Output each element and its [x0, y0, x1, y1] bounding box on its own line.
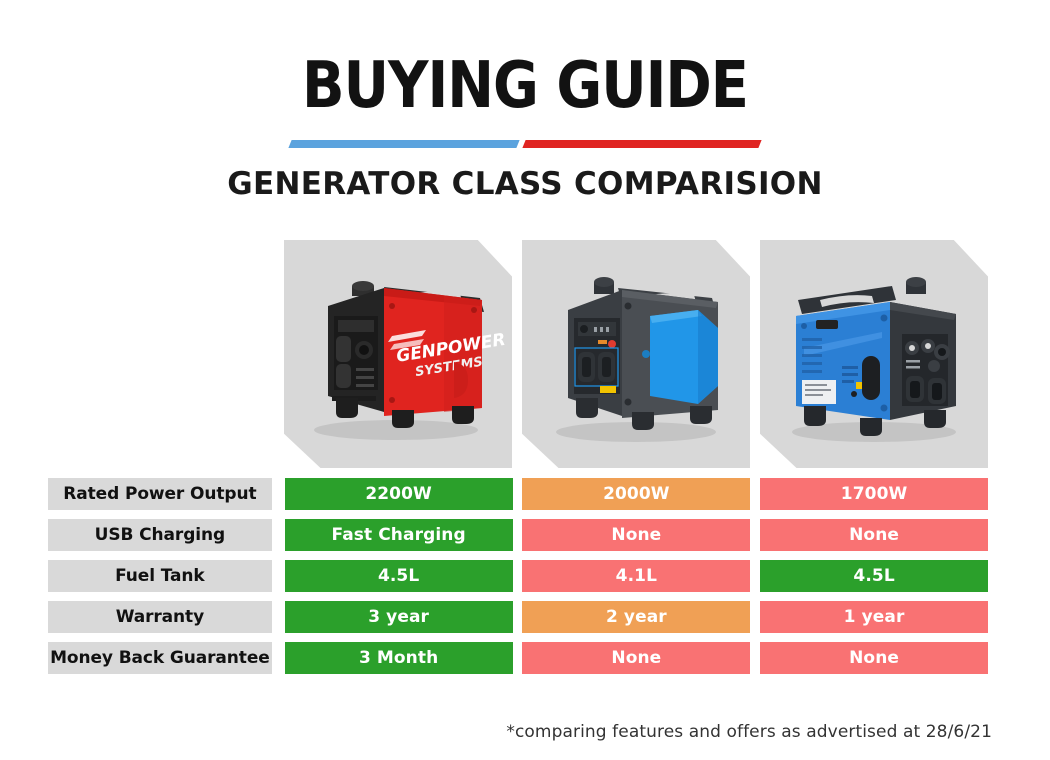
comparison-table: Rated Power Output 2200W 2000W 1700W USB…: [48, 478, 988, 683]
product-panel-1: GENPOWER SYSTEMS: [284, 240, 512, 468]
row-spacer: [272, 519, 285, 551]
feature-label: USB Charging: [48, 519, 272, 551]
value-cell-col3: 1 year: [760, 601, 988, 633]
feature-label: Rated Power Output: [48, 478, 272, 510]
row-spacer: [513, 478, 523, 510]
row-spacer: [272, 478, 285, 510]
generator-grey-blue-image: [522, 240, 750, 468]
value-cell-col2: 2000W: [522, 478, 750, 510]
table-row: Money Back Guarantee 3 Month None None: [48, 642, 988, 674]
value-cell-col1: 4.5L: [285, 560, 513, 592]
row-spacer: [750, 560, 760, 592]
table-row: Warranty 3 year 2 year 1 year: [48, 601, 988, 633]
value-cell-col2: 4.1L: [522, 560, 750, 592]
value-cell-col1: 2200W: [285, 478, 513, 510]
value-cell-col2: None: [522, 642, 750, 674]
header: BUYING GUIDE GENERATOR CLASS COMPARISION: [0, 0, 1050, 202]
row-spacer: [513, 519, 523, 551]
buying-guide-page: BUYING GUIDE GENERATOR CLASS COMPARISION: [0, 0, 1050, 760]
value-cell-col3: 4.5L: [760, 560, 988, 592]
row-spacer: [513, 601, 523, 633]
product-panel-3: [760, 240, 988, 468]
feature-label: Money Back Guarantee: [48, 642, 272, 674]
product-image-row: GENPOWER SYSTEMS: [284, 240, 988, 468]
product-panel-2: [522, 240, 750, 468]
value-cell-col3: 1700W: [760, 478, 988, 510]
table-row: USB Charging Fast Charging None None: [48, 519, 988, 551]
feature-label: Warranty: [48, 601, 272, 633]
table-row: Rated Power Output 2200W 2000W 1700W: [48, 478, 988, 510]
divider-red-bar: [522, 140, 761, 148]
value-cell-col3: None: [760, 642, 988, 674]
row-spacer: [750, 642, 760, 674]
generator-red-image: GENPOWER SYSTEMS: [284, 240, 512, 468]
row-spacer: [272, 560, 285, 592]
value-cell-col1: Fast Charging: [285, 519, 513, 551]
row-spacer: [750, 601, 760, 633]
value-cell-col2: 2 year: [522, 601, 750, 633]
value-cell-col1: 3 year: [285, 601, 513, 633]
page-subtitle: GENERATOR CLASS COMPARISION: [0, 166, 1050, 202]
title-divider: [290, 140, 760, 150]
row-spacer: [750, 478, 760, 510]
page-title: BUYING GUIDE: [16, 54, 1035, 118]
row-spacer: [272, 601, 285, 633]
divider-blue-bar: [288, 140, 519, 148]
feature-label: Fuel Tank: [48, 560, 272, 592]
row-spacer: [513, 642, 523, 674]
table-row: Fuel Tank 4.5L 4.1L 4.5L: [48, 560, 988, 592]
row-spacer: [272, 642, 285, 674]
generator-blue-image: [760, 240, 988, 468]
value-cell-col3: None: [760, 519, 988, 551]
value-cell-col2: None: [522, 519, 750, 551]
row-spacer: [513, 560, 523, 592]
row-spacer: [750, 519, 760, 551]
footnote-text: *comparing features and offers as advert…: [506, 722, 992, 742]
value-cell-col1: 3 Month: [285, 642, 513, 674]
